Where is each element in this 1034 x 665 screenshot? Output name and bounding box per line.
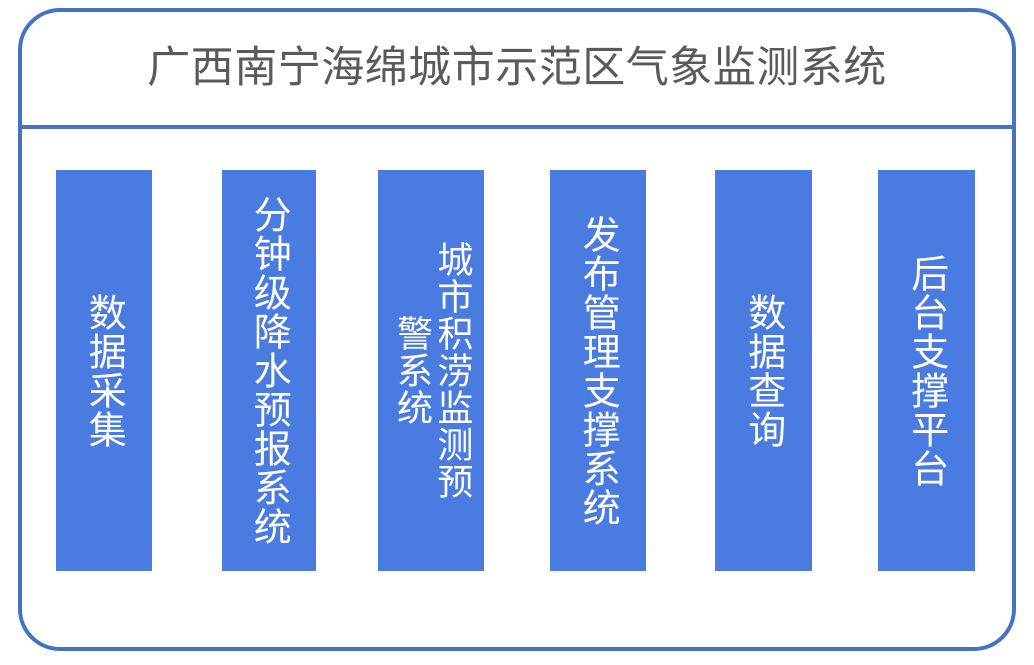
pillar-label: 发布管理支撑系统 [577,215,620,527]
pillar-urban-waterlogging-warning[interactable]: 城市积涝监测预警系统 [378,170,484,571]
pillar-data-query[interactable]: 数据查询 [715,170,812,571]
pillar-publish-management-support[interactable]: 发布管理支撑系统 [550,170,646,571]
pillar-minute-precip-forecast[interactable]: 分钟级降水预报系统 [222,170,316,571]
pillar-label: 数据采集 [83,293,126,449]
pillar-label: 数据查询 [742,293,785,449]
pillar-backend-support-platform[interactable]: 后台支撑平台 [878,170,975,571]
diagram-canvas: 广西南宁海绵城市示范区气象监测系统 数据采集 分钟级降水预报系统 城市积涝监测预… [0,0,1034,665]
diagram-title: 广西南宁海绵城市示范区气象监测系统 [147,45,887,92]
pillar-label: 分钟级降水预报系统 [248,195,291,546]
title-divider-line [18,125,1016,129]
pillar-label: 后台支撑平台 [905,254,948,488]
pillar-label: 城市积涝监测预警系统 [391,236,472,506]
pillar-data-collection[interactable]: 数据采集 [56,170,152,571]
title-band: 广西南宁海绵城市示范区气象监测系统 [22,12,1012,125]
